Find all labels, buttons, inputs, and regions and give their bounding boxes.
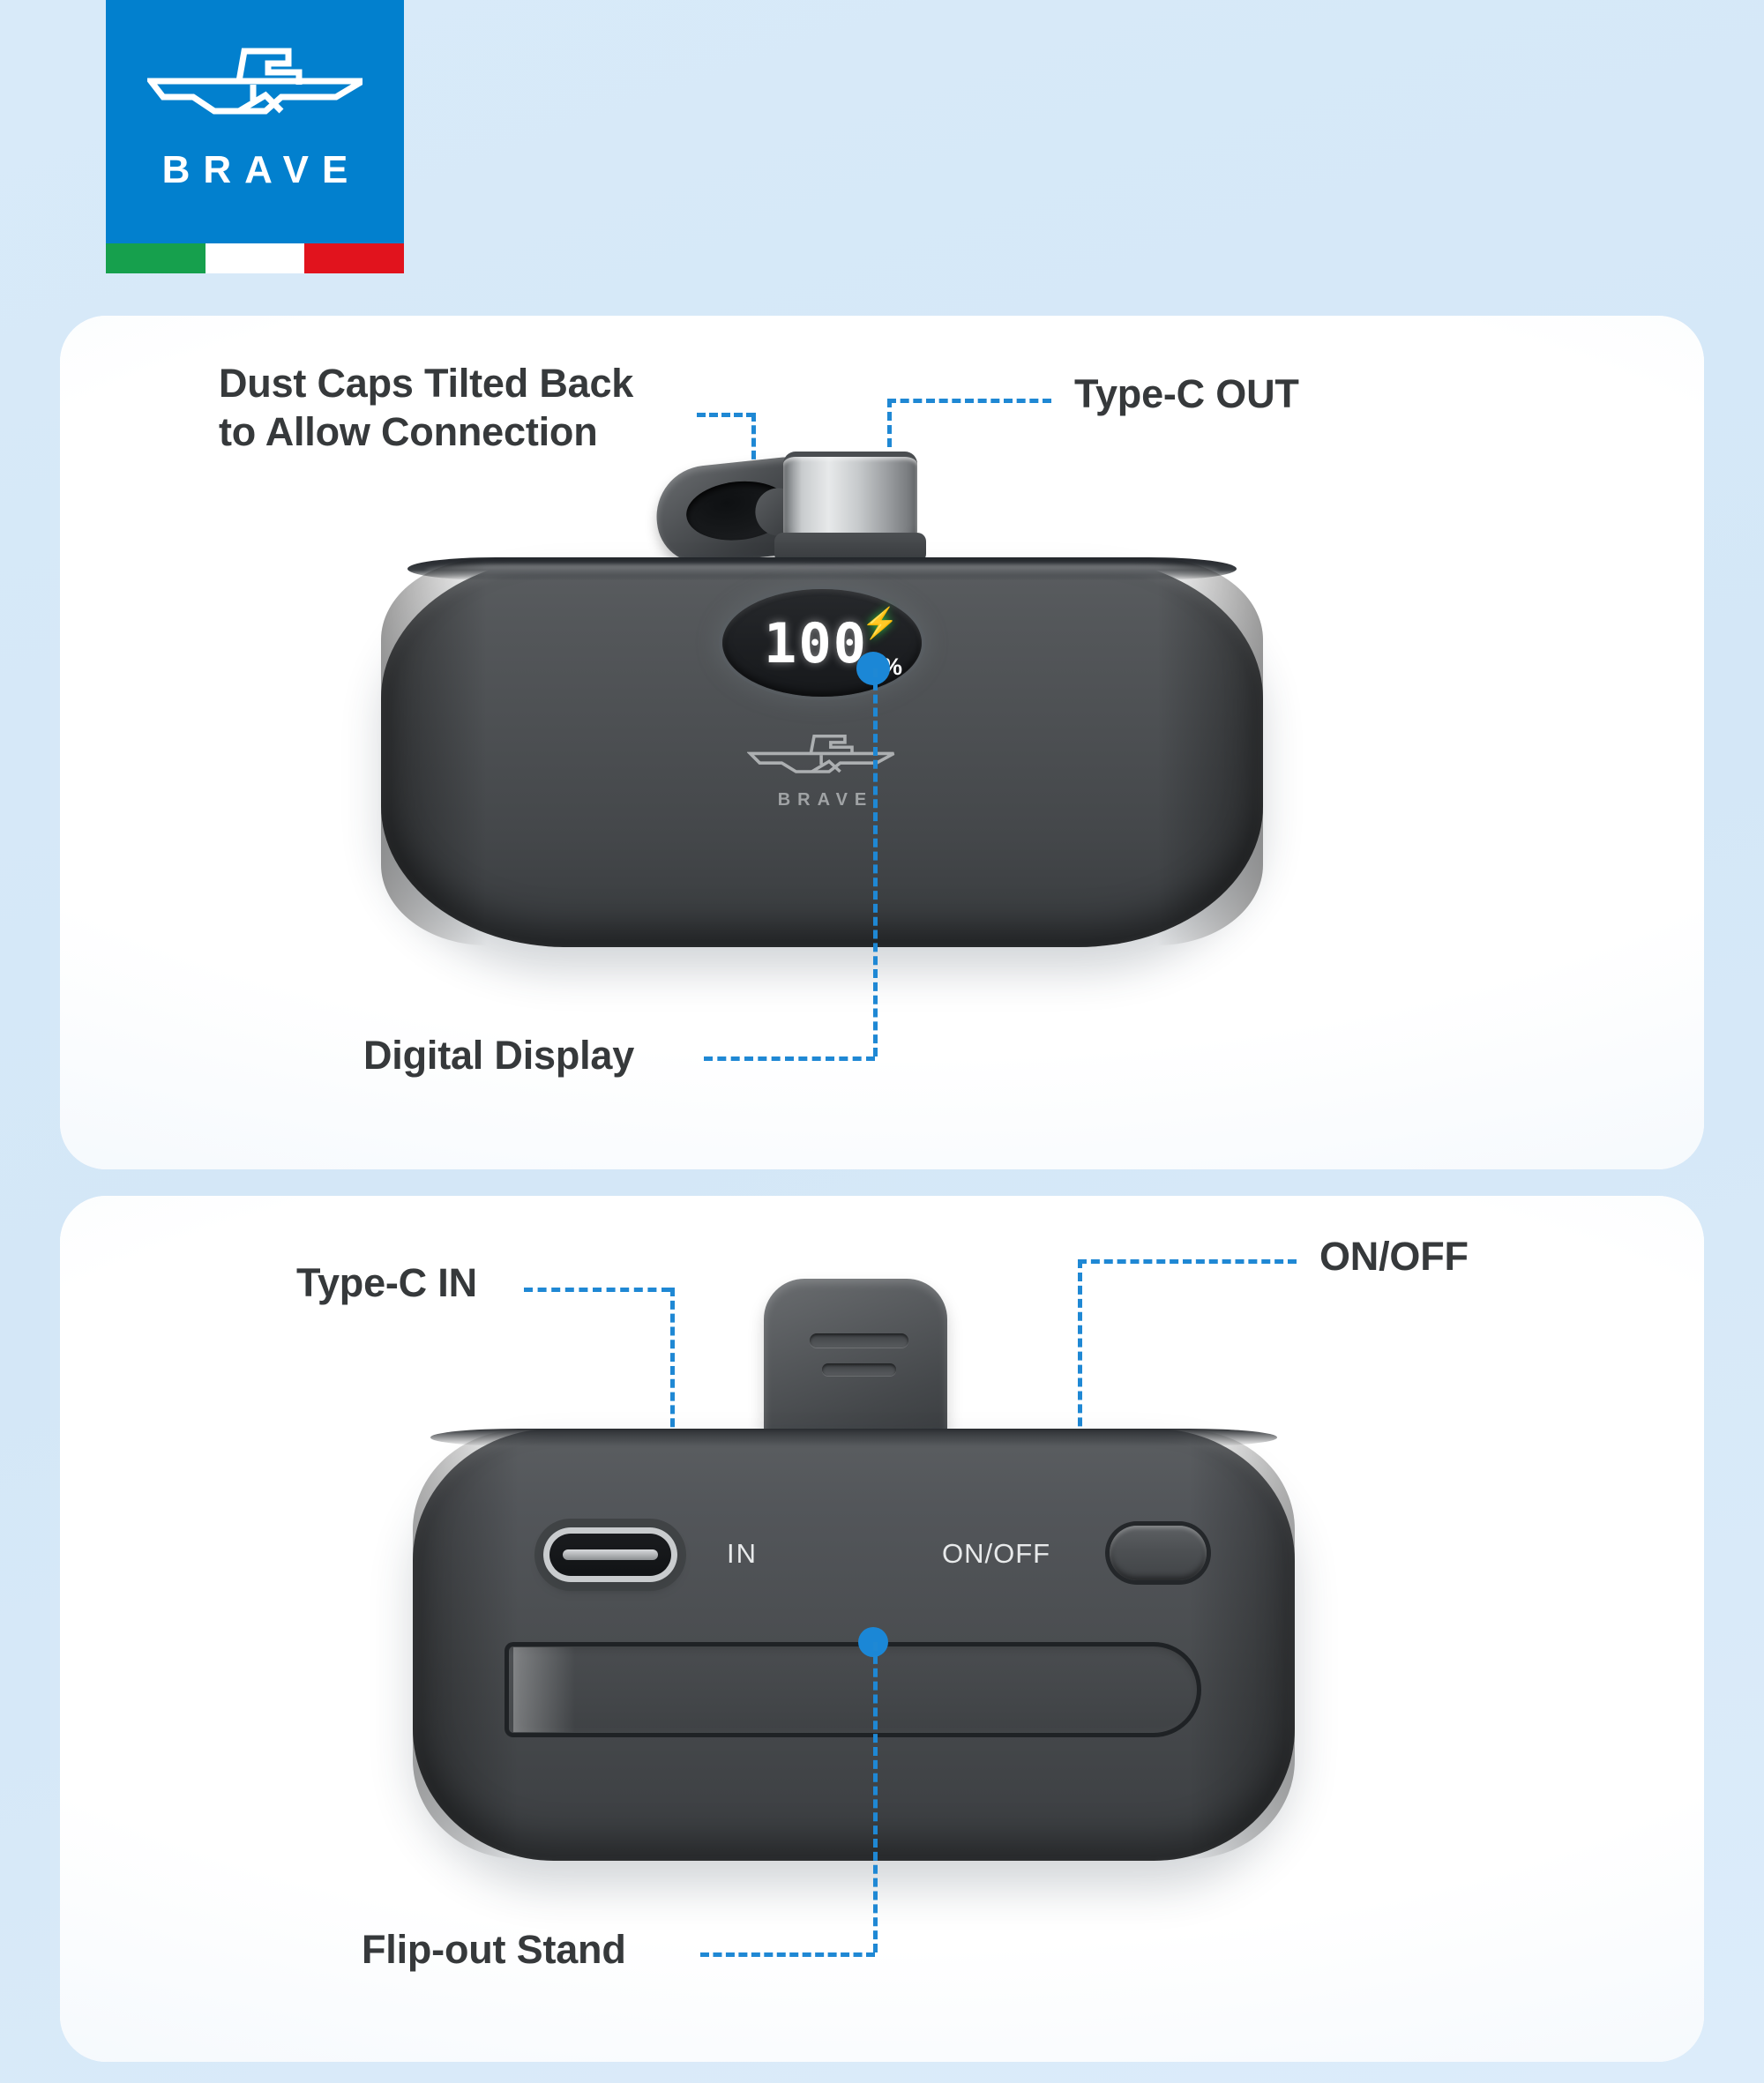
dust-cap-cover: [764, 1279, 947, 1443]
leader-flip-out-stand-v: [873, 1642, 878, 1952]
callout-label-type-c-in: Type-C IN: [296, 1259, 477, 1308]
brand-wordmark: BRAVE: [106, 148, 404, 192]
battery-percent-digits: 100: [764, 611, 868, 676]
callout-label-digital-display: Digital Display: [363, 1032, 634, 1080]
brand-logo-block: BRAVE: [106, 0, 404, 243]
power-button[interactable]: [1110, 1526, 1207, 1580]
type-c-out-connector: [783, 452, 917, 547]
leader-type-c-out-h: [887, 399, 1051, 403]
back-shade-right: [1189, 1430, 1295, 1859]
callout-label-dust-caps: Dust Caps Tilted Back to Allow Connectio…: [219, 360, 713, 457]
leader-type-c-in-h: [524, 1288, 670, 1292]
button-label-on-off: ON/OFF: [942, 1538, 1050, 1570]
digital-display-screen: 100 ⚡ %: [722, 589, 922, 697]
type-c-in-port: [543, 1527, 677, 1582]
callout-label-type-c-out: Type-C OUT: [1074, 370, 1299, 419]
leader-dust-caps-h: [697, 413, 755, 417]
port-label-in: IN: [727, 1538, 758, 1570]
italian-flag-stripe: [106, 243, 404, 273]
brave-wing-emblem-icon: [147, 46, 363, 129]
cap-slot-lower: [822, 1363, 896, 1376]
flip-out-stand[interactable]: [505, 1642, 1201, 1737]
device-brand-text: BRAVE: [738, 790, 906, 810]
flag-white: [206, 243, 305, 273]
power-bank-front: 100 ⚡ % BRAVE: [381, 557, 1263, 947]
leader-on-off-h: [1078, 1259, 1297, 1264]
back-shade-left: [413, 1430, 519, 1859]
leader-digital-display-h: [704, 1056, 875, 1061]
lightning-bolt-icon: ⚡: [862, 608, 899, 638]
leader-digital-display-v: [873, 668, 878, 1056]
leader-flip-out-stand-h: [700, 1952, 875, 1957]
flag-green: [106, 243, 206, 273]
infographic-page: BRAVE Dust Caps Tilted Back to Allow Con…: [0, 0, 1764, 2083]
brand-logo: BRAVE: [106, 0, 404, 273]
cap-slot-upper: [810, 1333, 908, 1348]
device-brand-mark: BRAVE: [738, 732, 906, 810]
callout-label-on-off: ON/OFF: [1319, 1233, 1469, 1281]
flag-red: [304, 243, 404, 273]
callout-label-flip-out-stand: Flip-out Stand: [362, 1926, 626, 1975]
power-bank-back: IN ON/OFF: [413, 1429, 1295, 1861]
